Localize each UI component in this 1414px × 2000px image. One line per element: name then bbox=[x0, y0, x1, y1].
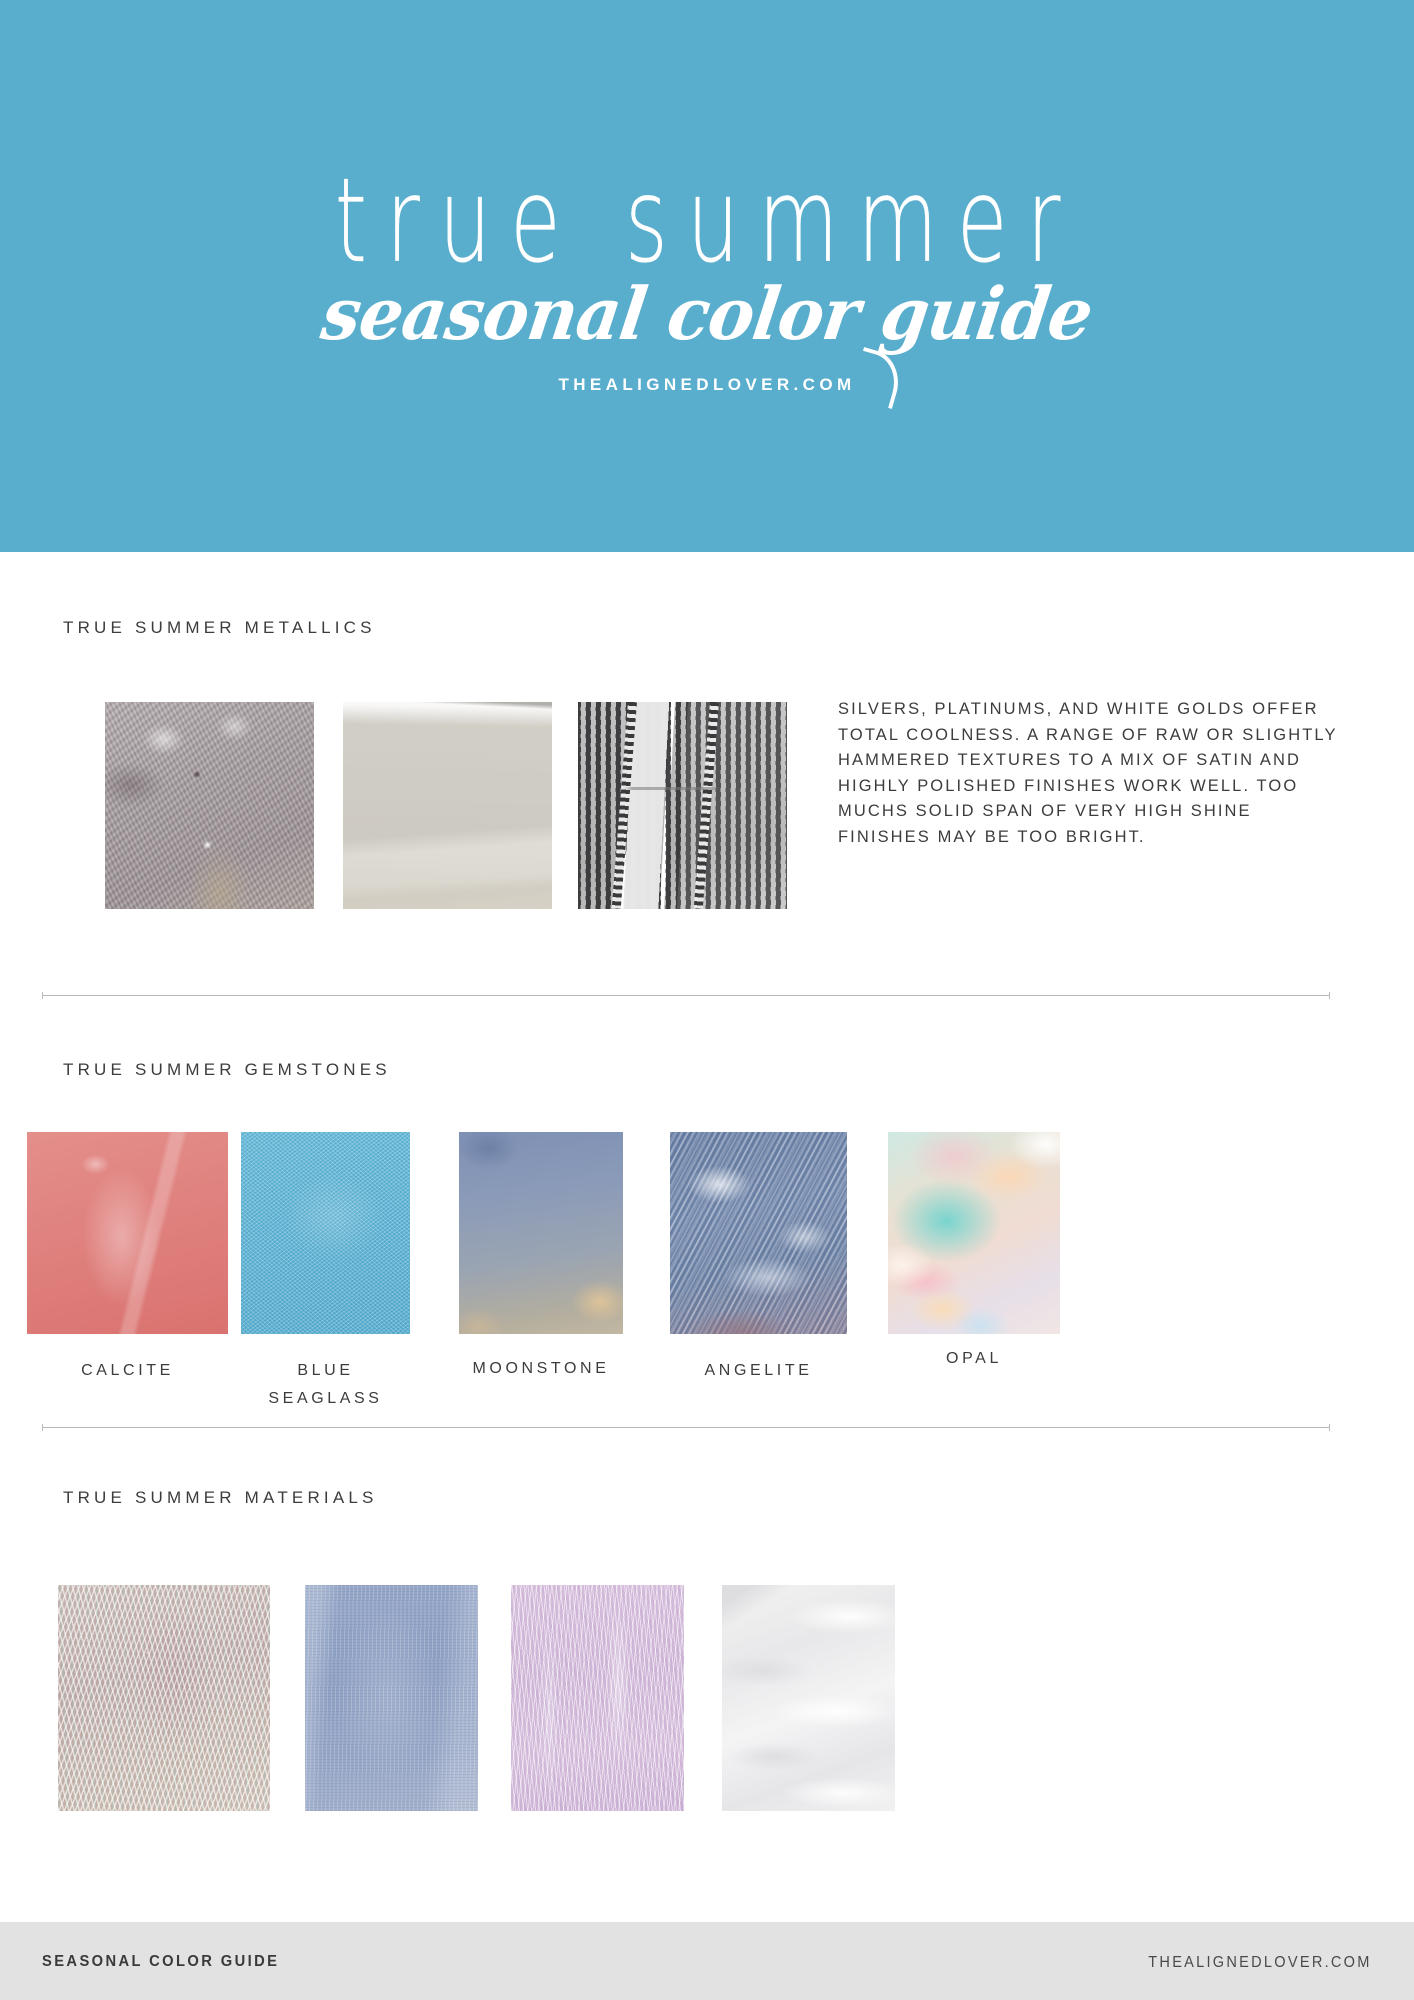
gemstone-swatch-blue-seaglass bbox=[241, 1132, 410, 1334]
metallic-swatch-satin-platinum bbox=[343, 702, 552, 909]
material-swatch-white-silk-satin bbox=[722, 1585, 895, 1811]
metallics-description: SILVERS, PLATINUMS, AND WHITE GOLDS OFFE… bbox=[838, 697, 1338, 851]
material-swatch-iridescent-sequin-mesh bbox=[58, 1585, 270, 1811]
footer-website-url: THEALIGNEDLOVER.COM bbox=[1149, 1954, 1372, 1972]
footer-title: SEASONAL COLOR GUIDE bbox=[42, 1953, 279, 1971]
section-heading-metallics: TRUE SUMMER METALLICS bbox=[63, 618, 376, 638]
divider-metallics-gemstones bbox=[42, 995, 1330, 996]
divider-gemstones-materials bbox=[42, 1427, 1330, 1428]
gemstone-label-angelite: ANGELITE bbox=[670, 1357, 847, 1385]
page-title: true summer bbox=[99, 162, 1315, 279]
material-swatch-chambray-linen bbox=[305, 1585, 478, 1811]
metallic-swatch-polished-white-gold-chain bbox=[578, 702, 787, 909]
metallic-swatch-raw-hammered-silver bbox=[105, 702, 314, 909]
page-footer: SEASONAL COLOR GUIDE THEALIGNEDLOVER.COM bbox=[0, 1922, 1414, 2000]
gemstone-label-opal: OPAL bbox=[888, 1345, 1060, 1373]
gemstone-swatch-angelite bbox=[670, 1132, 847, 1334]
gemstone-label-calcite: CALCITE bbox=[27, 1357, 228, 1385]
gemstone-label-blue-seaglass: BLUE SEAGLASS bbox=[241, 1357, 410, 1413]
gemstone-label-moonstone: MOONSTONE bbox=[459, 1355, 623, 1383]
hero-script-subtitle: seasonal color guide bbox=[30, 278, 1383, 350]
gemstone-swatch-opal bbox=[888, 1132, 1060, 1334]
hero-banner: true summer seasonal color guide THEALIG… bbox=[0, 0, 1414, 552]
metallic-texture-overlay bbox=[105, 702, 314, 909]
section-heading-gemstones: TRUE SUMMER GEMSTONES bbox=[63, 1060, 391, 1080]
hero-website-url: THEALIGNEDLOVER.COM bbox=[0, 375, 1414, 395]
chain-link-texture bbox=[578, 702, 787, 909]
seasonal-color-guide-page: true summer seasonal color guide THEALIG… bbox=[0, 0, 1414, 2000]
gemstone-swatch-calcite bbox=[27, 1132, 228, 1334]
chain-highlight-band bbox=[578, 787, 787, 790]
material-swatch-lilac-mohair bbox=[511, 1585, 684, 1811]
gemstone-swatch-moonstone bbox=[459, 1132, 623, 1334]
section-heading-materials: TRUE SUMMER MATERIALS bbox=[63, 1488, 378, 1508]
